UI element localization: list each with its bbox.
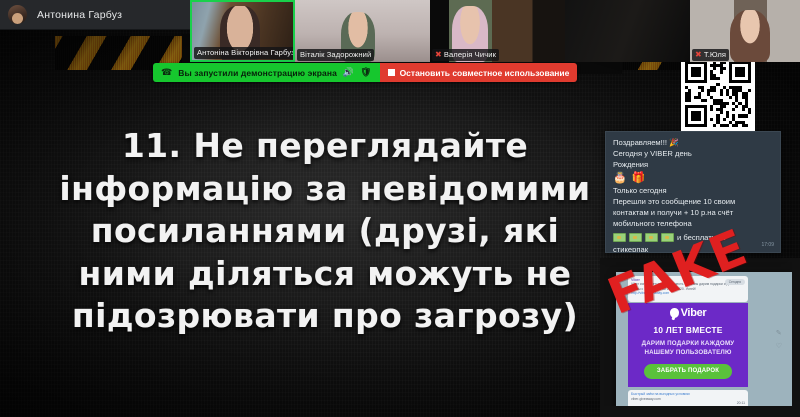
money-emoji-row: и бесплатный [613,233,773,244]
msg-line: Сегодня у VIBER день [613,149,773,160]
shield-icon[interactable]: 🛡 [360,68,371,77]
video-tile[interactable]: ✖ Т.Юля [690,0,800,62]
stop-share-button[interactable]: Остановить совместное использование [380,63,578,82]
msg-line: стикерпак [613,245,773,253]
microphone-muted-icon: ✖ [695,51,702,59]
participant-name: Валерія Чичик [444,50,496,59]
promo-preview-link[interactable]: http://viber-giveaway.com [631,291,745,296]
speaker-icon[interactable]: 🔊 [343,68,354,77]
promo-frame [792,258,800,417]
viber-brand-text: Viber [681,307,707,319]
video-tile-label: ✖ Т.Юля [692,49,729,62]
stop-icon [388,69,395,76]
viber-logo: Viber [628,307,748,319]
participant-name: Т.Юля [704,50,726,59]
qr-code [681,57,755,131]
phone-icon: ☎ [161,68,172,77]
screen-share-slide: 11. Не переглядайте інформацію за невідо… [0,0,800,417]
stop-share-label: Остановить совместное использование [400,68,570,78]
banknote-icon [613,233,626,242]
promo-frame [600,406,800,417]
promo-chat-preview: Viber Viber исполняется 10 лет, в честь … [628,276,748,302]
msg-line: контактам и получи + 10 р.на счёт [613,208,773,219]
video-tile[interactable] [565,0,690,62]
video-tile-label: ✖ Валерія Чичик [432,49,499,62]
video-tile[interactable]: ✖ Валерія Чичик [430,0,565,62]
user-avatar-icon [8,5,27,24]
money-row-suffix: и бесплатный [677,233,726,244]
banknote-icon [629,233,642,242]
promo-headline: 10 ЛЕТ ВМЕСТЕ [628,325,748,335]
viber-promo-card: Viber 10 ЛЕТ ВМЕСТЕ ДАРИМ ПОДАРКИ КАЖДОМ… [628,303,748,387]
message-timestamp: 17:09 [761,242,774,249]
video-feed [565,0,690,62]
promo-frame [600,258,616,417]
claim-gift-button[interactable]: ЗАБРАТЬ ПОДАРОК [644,364,732,379]
video-tile[interactable]: Антоніна Вікторівна Гарбуз [190,0,295,62]
promo-subline: ДАРИМ ПОДАРКИ КАЖДОМУ НАШЕМУ ПОЛЬЗОВАТЕЛ… [628,340,748,358]
fake-viber-message-card: Поздравляем!!! 🎉 Сегодня у VIBER день Ро… [605,131,781,253]
share-status: ☎ Вы запустили демонстрацию экрана 🔊 🛡 [153,63,380,82]
participant-name: Антоніна Вікторівна Гарбуз [197,48,295,57]
qr-code-matrix [685,61,751,127]
msg-line: Перешли это сообщение 10 своим [613,197,773,208]
participant-name: Віталік Задорожний [300,50,371,59]
emoji-row: 🎂 🎁 [613,172,773,184]
msg-line: мобильного телефона [613,219,773,230]
screen-share-bar: ☎ Вы запустили демонстрацию экрана 🔊 🛡 О… [153,63,577,82]
msg-line: Рождения [613,160,773,171]
promo-side-actions: ✎ ♡ [776,328,782,353]
slide-text: 11. Не переглядайте інформацію за невідо… [40,125,610,338]
heart-icon[interactable]: ♡ [776,341,782,354]
viber-icon [670,308,679,318]
microphone-muted-icon: ✖ [435,51,442,59]
viber-promo-screenshot: Viber Viber исполняется 10 лет, в честь … [616,272,792,414]
promo-frame [600,258,800,272]
msg-line: Только сегодня [613,186,773,197]
participant-name: Антонина Гарбуз [37,9,122,21]
share-status-text: Вы запустили демонстрацию экрана [178,68,337,78]
video-thumbnail-strip: Антоніна Вікторівна Гарбуз Віталік Задор… [190,0,800,62]
edit-icon[interactable]: ✎ [776,328,782,341]
video-tile-label: Віталік Задорожний [297,49,374,62]
banknote-icon [661,233,674,242]
banknote-icon [645,233,658,242]
video-tile-label: Антоніна Вікторівна Гарбуз [194,47,295,60]
msg-line: Поздравляем!!! 🎉 [613,138,773,149]
promo-seen-badge: Сегодня [725,279,745,285]
video-tile[interactable]: Віталік Задорожний [295,0,430,62]
